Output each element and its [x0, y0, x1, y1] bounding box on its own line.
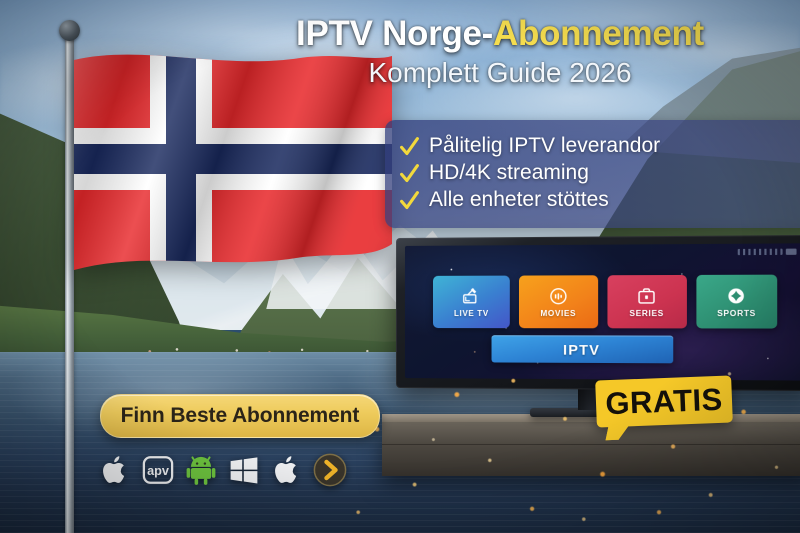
tile-label: LIVE TV [454, 308, 489, 317]
gratis-badge-tail [606, 424, 630, 440]
feature-item: Pålitelig IPTV leverandor [399, 134, 800, 158]
tile-label: SERIES [629, 308, 663, 317]
page-title: IPTV Norge-Abonnement Komplett Guide 202… [220, 14, 780, 89]
platform-apple-2[interactable] [270, 453, 304, 487]
flag-pole-finial-icon [59, 20, 80, 41]
android-icon [186, 454, 216, 486]
feature-label: Pålitelig IPTV leverandor [429, 134, 660, 158]
apv-icon: apv [142, 454, 174, 486]
title-highlight-part: Abonnement [493, 14, 704, 53]
apple-icon [273, 454, 301, 486]
next-arrow-button[interactable] [313, 453, 347, 487]
sports-star-icon [726, 286, 746, 306]
supported-platforms-row: apv [98, 449, 347, 491]
tile-label: SPORTS [717, 308, 756, 317]
tv-screen: LIVE TV MOVIES [405, 243, 800, 380]
title-subtitle: Komplett Guide 2026 [220, 57, 780, 89]
feature-list-panel: Pålitelig IPTV leverandor HD/4K streamin… [385, 120, 800, 228]
feature-label: HD/4K streaming [429, 161, 589, 185]
status-battery-icon [786, 249, 797, 255]
tile-movies[interactable]: MOVIES [519, 275, 597, 328]
feature-label: Alle enheter stöttes [429, 188, 609, 212]
media-console-seam [382, 444, 800, 445]
screen-status-indicators [738, 249, 797, 256]
windows-icon [229, 456, 259, 485]
iptv-button-label: IPTV [563, 341, 600, 357]
check-icon [399, 136, 420, 157]
check-icon [399, 190, 420, 211]
chevron-right-icon [313, 453, 347, 487]
platform-apv[interactable]: apv [141, 453, 175, 487]
media-console [382, 414, 800, 476]
apple-icon [101, 454, 129, 486]
status-dots-icon [738, 249, 783, 255]
feature-item: HD/4K streaming [399, 161, 800, 185]
platform-android[interactable] [184, 453, 218, 487]
platform-apple[interactable] [98, 453, 132, 487]
tv-bezel: LIVE TV MOVIES [396, 235, 800, 391]
tile-sports[interactable]: SPORTS [696, 275, 777, 329]
iptv-promo-poster: IPTV Norge-Abonnement Komplett Guide 202… [0, 0, 800, 533]
briefcase-icon [637, 286, 657, 305]
platform-windows[interactable] [227, 453, 261, 487]
app-tile-grid: LIVE TV MOVIES [433, 275, 777, 329]
iptv-main-button[interactable]: IPTV [492, 335, 674, 363]
tile-live-tv[interactable]: LIVE TV [433, 276, 510, 329]
find-best-subscription-button[interactable]: Finn Beste Abonnement [100, 394, 380, 438]
cta-label: Finn Beste Abonnement [121, 404, 360, 428]
feature-item: Alle enheter stöttes [399, 188, 800, 212]
tile-series[interactable]: SERIES [607, 275, 687, 328]
gratis-badge: GRATIS [595, 375, 733, 427]
live-tv-icon [462, 286, 481, 305]
gratis-badge-label: GRATIS [605, 381, 724, 421]
title-white-part: IPTV Norge- [296, 14, 493, 53]
check-icon [399, 163, 420, 184]
title-main-line: IPTV Norge-Abonnement [220, 14, 780, 53]
film-reel-icon [549, 286, 569, 305]
tile-label: MOVIES [540, 308, 576, 317]
svg-text:apv: apv [147, 464, 169, 478]
